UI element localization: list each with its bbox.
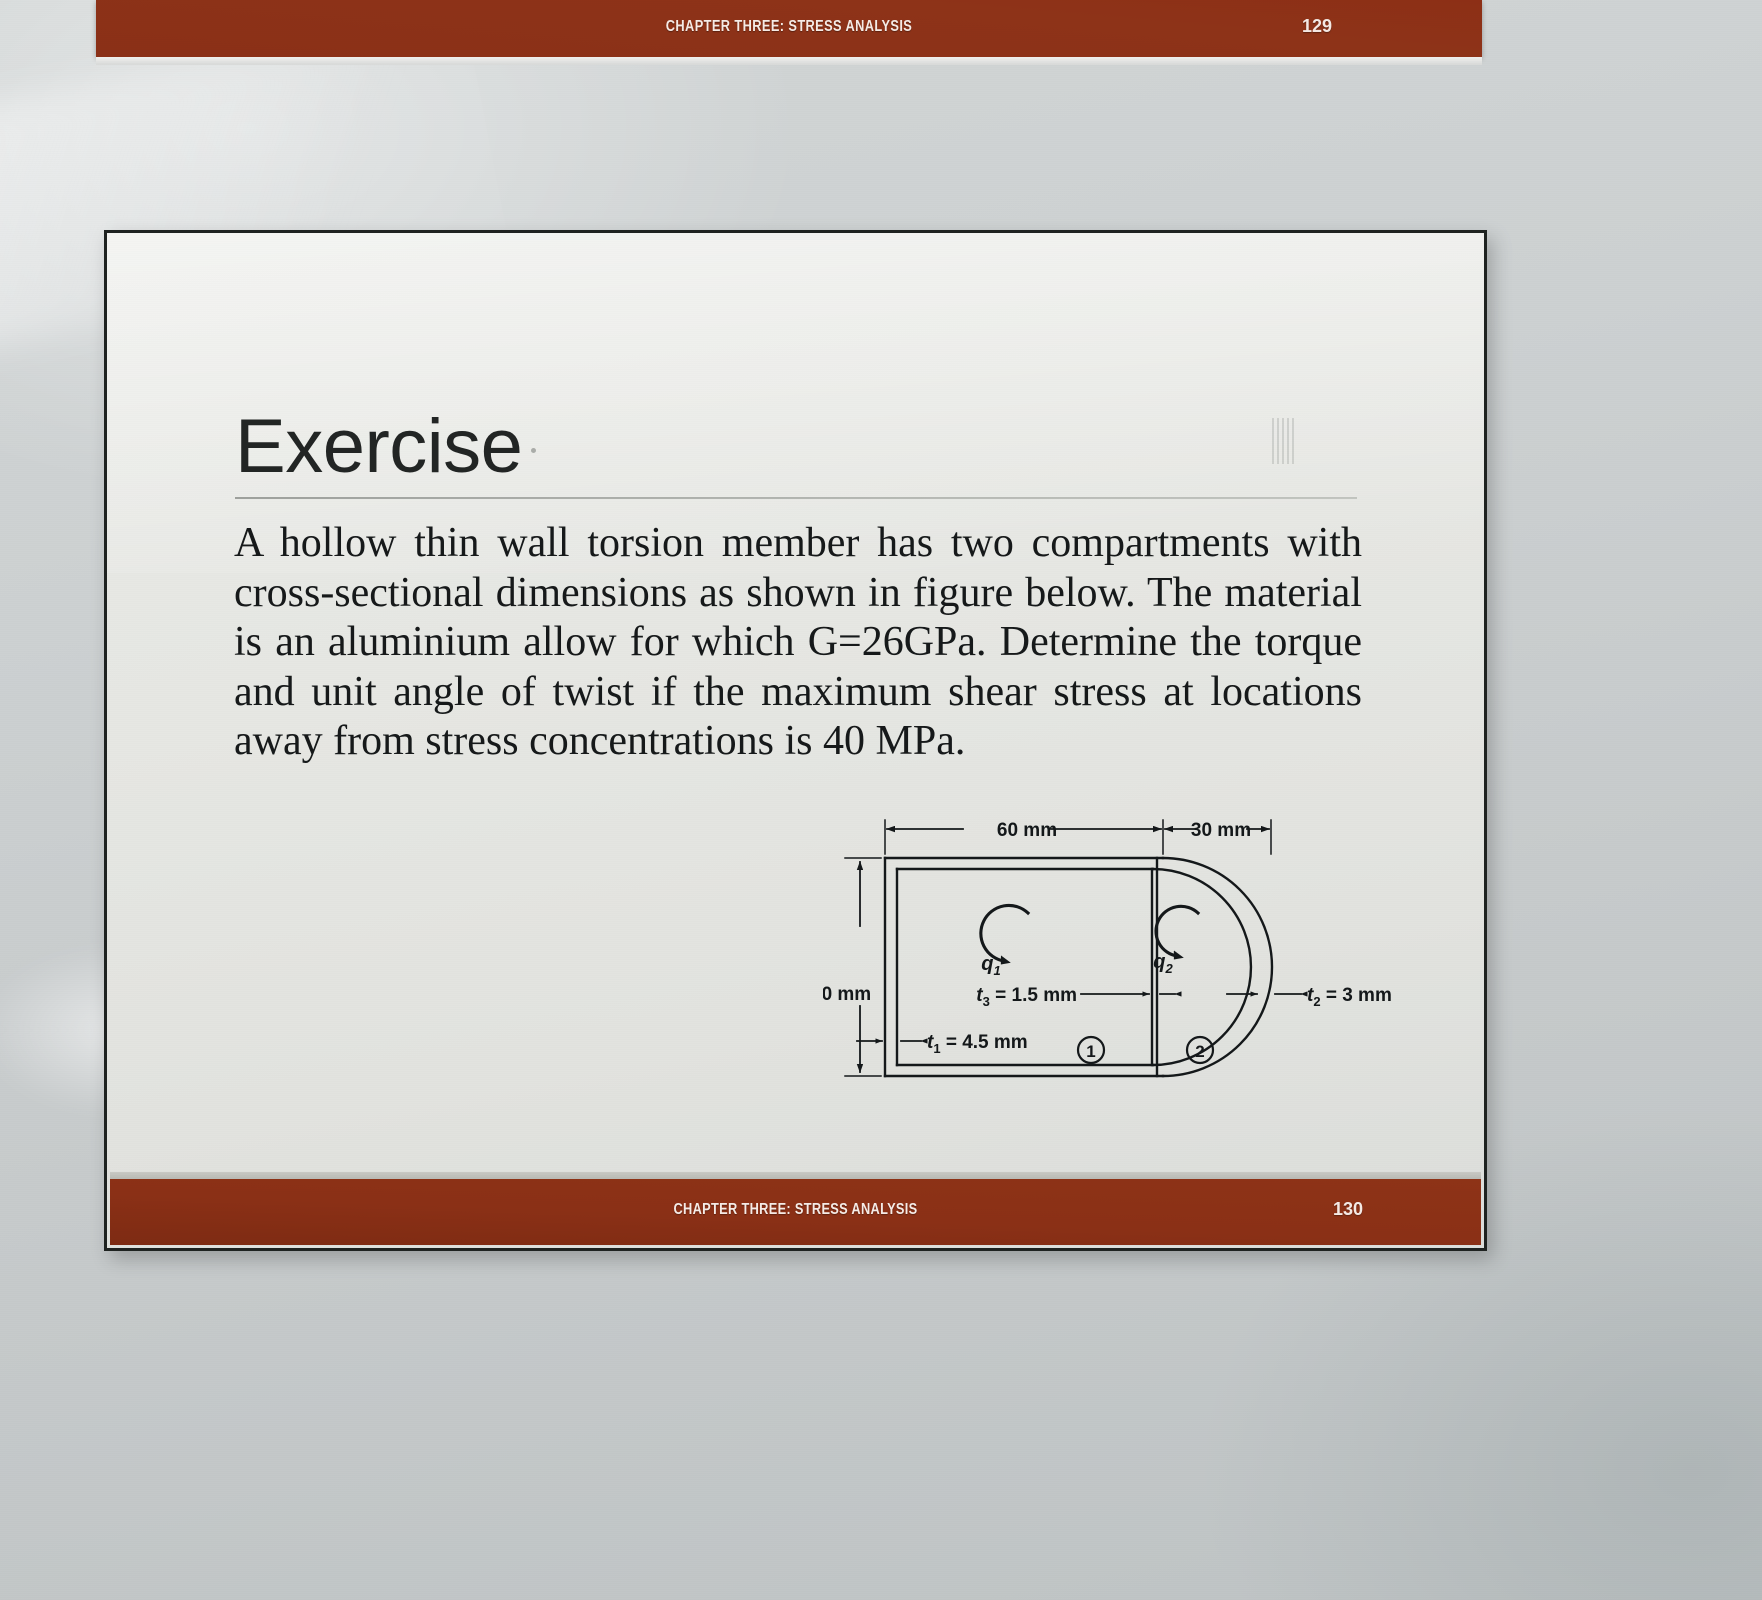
top-band-chapter-title: CHAPTER THREE: STRESS ANALYSIS — [235, 18, 1344, 36]
cell-number-2: 2 — [1195, 1042, 1204, 1061]
title-divider — [235, 497, 1357, 499]
thickness-label-t3: t3 = 1.5 mm — [976, 985, 1077, 1009]
previous-slide-edge — [96, 57, 1482, 65]
paper-smudge — [1272, 418, 1294, 464]
slide-band-highlight — [110, 1172, 1481, 1179]
exercise-body-text: A hollow thin wall torsion member has tw… — [234, 519, 1362, 767]
shear-flow-label-q1: q1 — [981, 953, 1000, 978]
thickness-label-t2: t2 = 3 mm — [1307, 985, 1392, 1009]
slide-footer-band: CHAPTER THREE: STRESS ANALYSIS 130 — [110, 1179, 1481, 1245]
cross-section-figure: 60 mm 30 mm 60 mm t3 = 1.5 mm t1 = 4.5 m… — [823, 798, 1423, 1118]
page-title: Exercise — [235, 403, 522, 490]
dimension-label-top-left: 60 mm — [997, 820, 1057, 841]
paper-speck — [531, 448, 536, 453]
cell-number-1: 1 — [1086, 1042, 1095, 1061]
footer-chapter-title: CHAPTER THREE: STRESS ANALYSIS — [247, 1201, 1344, 1219]
thickness-label-t1: t1 = 4.5 mm — [927, 1032, 1028, 1056]
slide-card: Exercise A hollow thin wall torsion memb… — [104, 230, 1487, 1251]
dimension-label-left-height: 60 mm — [823, 984, 871, 1005]
footer-page-number: 130 — [1333, 1199, 1363, 1220]
previous-slide-footer-band: CHAPTER THREE: STRESS ANALYSIS 129 — [96, 0, 1482, 57]
dimension-label-top-right: 30 mm — [1191, 820, 1251, 841]
top-band-page-number: 129 — [1302, 16, 1332, 37]
